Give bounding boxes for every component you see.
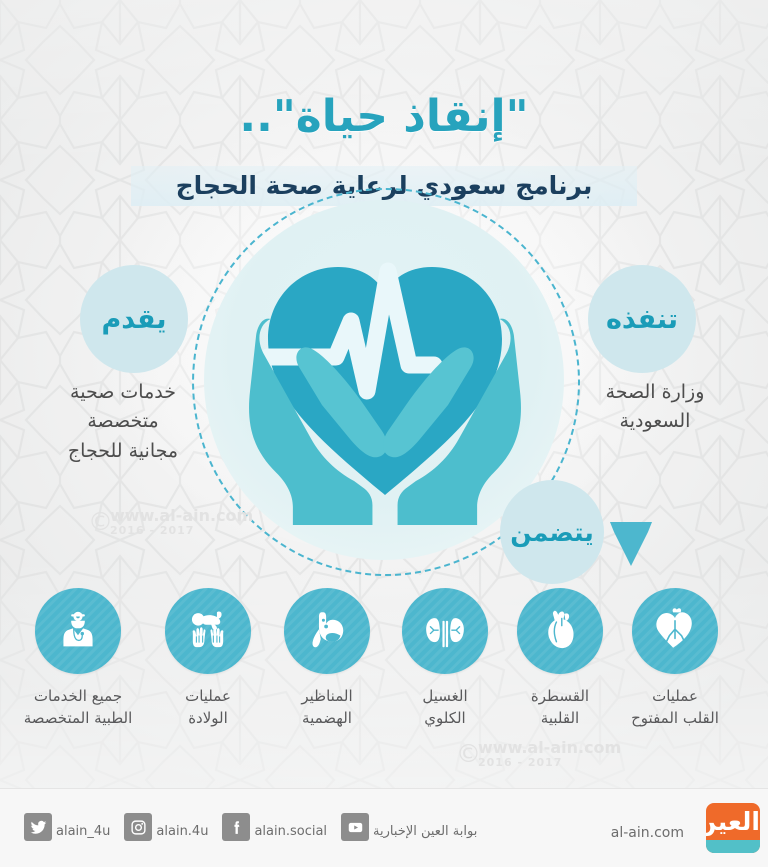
- service-label-line: القسطرة: [496, 686, 624, 708]
- service-label-line: الهضمية: [263, 708, 391, 730]
- service-label: جميع الخدمات الطبية المتخصصة: [14, 686, 142, 730]
- callout-text-provides: خدمات صحية متخصصة مجانية للحجاج: [28, 378, 218, 466]
- social-link-youtube[interactable]: بوابة العين الإخبارية: [341, 813, 477, 841]
- footer-bar: alain_4u alain.4u alain.social بوابة الع…: [0, 788, 768, 867]
- twitter-icon: [24, 813, 52, 841]
- service-label-line: الولادة: [144, 708, 272, 730]
- service-item-all-specialized-medical-services[interactable]: جميع الخدمات الطبية المتخصصة: [14, 588, 142, 730]
- chevron-down-icon: [608, 520, 654, 568]
- site-url[interactable]: al-ain.com: [611, 825, 684, 841]
- al-ain-logo[interactable]: العين: [706, 803, 760, 853]
- page-title: "إنقاذ حياة"..: [0, 95, 768, 139]
- logo-text: العين: [706, 805, 760, 839]
- service-label-line: الكلوي: [381, 708, 509, 730]
- service-label-line: عمليات: [144, 686, 272, 708]
- callout-line: خدمات صحية: [28, 378, 218, 407]
- social-handle: بوابة العين الإخبارية: [373, 824, 477, 841]
- services-row: عمليات القلب المفتوح: [0, 588, 768, 788]
- service-item-kidney-dialysis[interactable]: الغسيل الكلوي: [381, 588, 509, 730]
- watermark: © www.al-ain.com 2016 - 2017: [110, 508, 253, 536]
- service-label: القسطرة القلبية: [496, 686, 624, 730]
- social-link-instagram[interactable]: alain.4u: [124, 813, 208, 841]
- service-label-line: المناظير: [263, 686, 391, 708]
- service-label-line: القلب المفتوح: [611, 708, 739, 730]
- callout-text-executed-by: وزارة الصحة السعودية: [560, 378, 750, 437]
- callout-badge-executed-by: تنفذه: [588, 265, 696, 373]
- callout-line: مجانية للحجاج: [28, 437, 218, 466]
- service-item-childbirth[interactable]: عمليات الولادة: [144, 588, 272, 730]
- copyright-icon: ©: [88, 509, 113, 535]
- digestive-endoscopy-icon: [284, 588, 370, 674]
- service-label: عمليات القلب المفتوح: [611, 686, 739, 730]
- service-label-line: القلبية: [496, 708, 624, 730]
- cardiac-catheterization-icon: [517, 588, 603, 674]
- childbirth-icon: [165, 588, 251, 674]
- service-item-digestive-endoscopy[interactable]: المناظير الهضمية: [263, 588, 391, 730]
- service-item-cardiac-catheterization[interactable]: القسطرة القلبية: [496, 588, 624, 730]
- callout-line: متخصصة: [28, 407, 218, 436]
- service-label-line: جميع الخدمات: [14, 686, 142, 708]
- youtube-icon: [341, 813, 369, 841]
- callout-line: وزارة الصحة: [560, 378, 750, 407]
- kidney-dialysis-icon: [402, 588, 488, 674]
- infographic-canvas: "إنقاذ حياة".. برنامج سعودي لرعاية صحة ا…: [0, 0, 768, 867]
- watermark-years: 2016 - 2017: [110, 525, 253, 537]
- facebook-icon: [222, 813, 250, 841]
- social-handle: alain.social: [254, 824, 327, 841]
- service-label: الغسيل الكلوي: [381, 686, 509, 730]
- service-label: المناظير الهضمية: [263, 686, 391, 730]
- callout-badge-includes: يتضمن: [500, 480, 604, 584]
- callout-badge-provides: يقدم: [80, 265, 188, 373]
- service-item-open-heart-surgery[interactable]: عمليات القلب المفتوح: [611, 588, 739, 730]
- service-label-line: الطبية المتخصصة: [14, 708, 142, 730]
- logo-accent-bar: [706, 840, 760, 853]
- callout-line: السعودية: [560, 407, 750, 436]
- heart-in-hands-icon: [220, 205, 550, 535]
- instagram-icon: [124, 813, 152, 841]
- service-label-line: عمليات: [611, 686, 739, 708]
- service-label: عمليات الولادة: [144, 686, 272, 730]
- social-link-twitter[interactable]: alain_4u: [24, 813, 110, 841]
- social-link-facebook[interactable]: alain.social: [222, 813, 327, 841]
- open-heart-surgery-icon: [632, 588, 718, 674]
- social-links: alain_4u alain.4u alain.social بوابة الع…: [24, 813, 491, 841]
- service-label-line: الغسيل: [381, 686, 509, 708]
- watermark-url: www.al-ain.com: [110, 508, 253, 525]
- social-handle: alain_4u: [56, 824, 110, 841]
- all-specialized-medical-services-icon: [35, 588, 121, 674]
- social-handle: alain.4u: [156, 824, 208, 841]
